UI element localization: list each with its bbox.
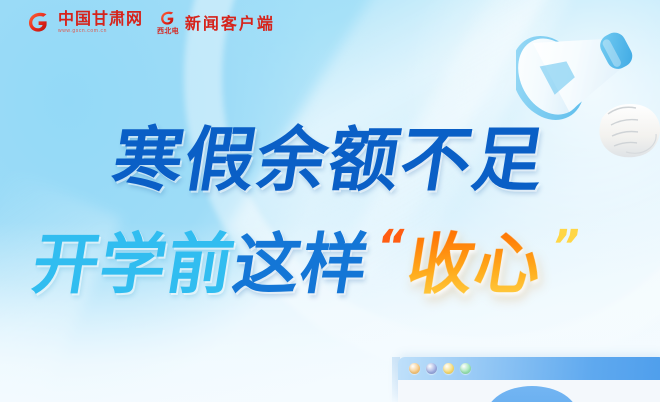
headline-line-1: 寒假余额不足 — [0, 104, 660, 205]
browser-titlebar — [398, 357, 660, 380]
app-logo-label: 西北电 — [157, 28, 179, 35]
window-dot-yellow[interactable] — [443, 363, 454, 374]
headline-highlight: 收心 — [399, 211, 552, 307]
headline-block: 寒假余额不足 开学前 这样 “ 收心 ” — [0, 104, 660, 307]
red-swoosh-icon — [26, 9, 52, 35]
browser-content-area — [398, 380, 660, 402]
quote-close-mark: ” — [547, 225, 584, 269]
browser-window-card — [398, 357, 660, 402]
app-branding[interactable]: 西北电 新闻客户端 — [157, 9, 275, 35]
site-name-block: 中国甘肃网 www.gscn.com.cn — [58, 11, 143, 34]
site-branding[interactable]: 中国甘肃网 www.gscn.com.cn — [26, 9, 143, 35]
browser-content-shape — [486, 386, 578, 402]
site-url: www.gscn.com.cn — [58, 29, 143, 34]
window-dot-blue[interactable] — [426, 363, 437, 374]
window-dot-orange[interactable] — [409, 363, 420, 374]
headline-line-2-part1: 开学前 — [26, 211, 242, 307]
headline-line-1-text: 寒假余额不足 — [106, 104, 554, 205]
app-logo-block: 西北电 — [157, 9, 179, 35]
headline-line-2-part2: 这样 — [227, 211, 376, 307]
headline-line-2: 开学前 这样 “ 收心 ” — [0, 211, 660, 307]
window-dot-green[interactable] — [460, 363, 471, 374]
branding-bar: 中国甘肃网 www.gscn.com.cn 西北电 新闻客户端 — [0, 0, 660, 44]
site-name: 中国甘肃网 — [58, 11, 143, 27]
poster-canvas: 中国甘肃网 www.gscn.com.cn 西北电 新闻客户端 — [0, 0, 660, 402]
red-swoosh-small-icon — [159, 9, 177, 27]
app-name: 新闻客户端 — [185, 10, 275, 34]
quote-open-mark: “ — [373, 225, 410, 269]
